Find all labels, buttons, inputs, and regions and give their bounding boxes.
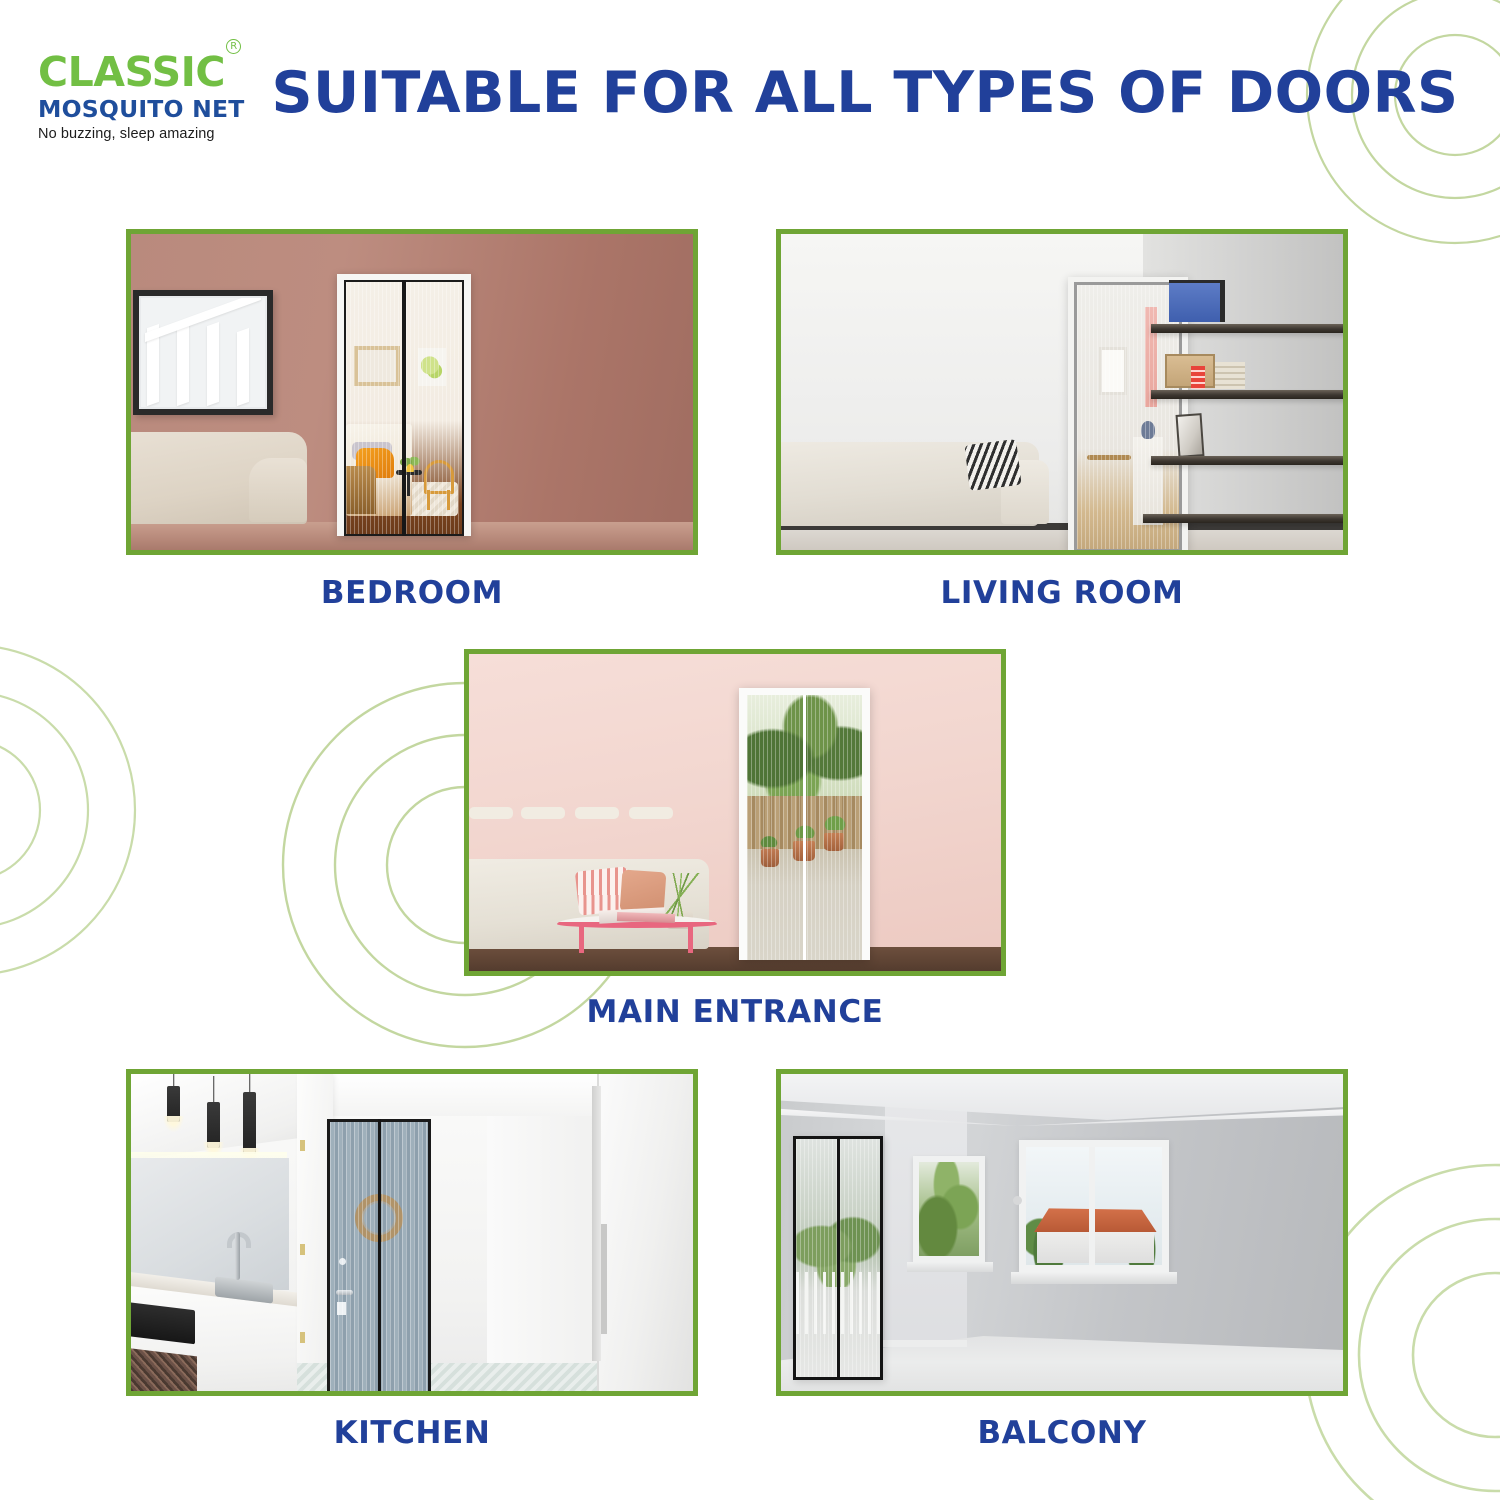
sofa-cushion [575,807,619,819]
window-mullion [1089,1147,1095,1265]
handrail [1087,455,1131,460]
large-window [1019,1140,1169,1272]
refrigerator [597,1074,693,1391]
brand-name-classic: CLASSICR [38,52,225,93]
scene-main-entrance [469,654,1001,971]
coffee-table-leg [579,925,584,953]
wall-picture-frame [133,290,273,415]
interior-window [1099,347,1127,395]
terracotta-pot [761,849,779,867]
brand-tagline: No buzzing, sleep amazing [38,126,268,142]
zebra-print-pillow [964,439,1021,491]
door-lock-plate [337,1302,346,1315]
shelf [1143,514,1343,523]
cabinet-gap [592,1086,601,1361]
garden-foliage [820,812,850,830]
tiled-rooftop [1034,1208,1156,1232]
caption-bedroom: BEDROOM [126,575,698,611]
card-living-room [776,229,1348,555]
side-table-stem [407,474,410,496]
image-frame-bedroom [126,229,698,555]
image-frame-living-room [776,229,1348,555]
scene-balcony [781,1074,1343,1391]
sofa-cushion [521,807,565,819]
picture-rail [207,322,219,406]
registered-trademark-icon: R [226,39,241,54]
brand-logo: CLASSICR MOSQUITO NET No buzzing, sleep … [38,52,268,142]
sofa-cushion [469,807,513,819]
bed-blanket [346,466,376,514]
wall-mirror [354,346,400,386]
decorative-rings-top-right [1290,0,1500,260]
image-frame-kitchen [126,1069,698,1396]
chair-leg [447,490,450,510]
magnetic-mesh-screen [327,1119,431,1391]
picture-rail [237,328,249,406]
floor [781,528,1343,550]
chair-back [424,460,454,494]
shelf [1151,324,1343,333]
floor [469,947,1001,971]
sofa-armrest [249,458,307,522]
book-stack [1165,354,1215,388]
shelf [1151,456,1343,465]
door-hinge [300,1244,305,1255]
pendant-light [167,1086,180,1122]
door-hinge [300,1140,305,1151]
chair-leg [427,490,430,510]
coffee-table-leg [688,925,693,953]
door-peephole [339,1258,346,1265]
magnetic-mesh-screen [344,280,464,536]
side-table [396,470,422,500]
magnetic-mesh-screen [747,695,862,960]
wall-art-graphic [421,351,443,383]
caption-kitchen: KITCHEN [126,1415,698,1451]
mesh-center-seam [803,695,806,960]
caption-living-room: LIVING ROOM [776,575,1348,611]
card-kitchen [126,1069,698,1396]
scene-bedroom [131,234,693,550]
chair [420,458,456,508]
picture-frame-decor [1176,413,1205,458]
backsplash [131,1158,289,1290]
baseboard [873,1340,967,1347]
small-window [913,1156,985,1262]
refrigerator-handle [601,1224,607,1334]
caption-main-entrance: MAIN ENTRANCE [464,994,1006,1030]
picture-rail [177,318,189,406]
wall-picture-image [141,298,265,407]
door-handle [336,1290,353,1295]
magnetic-mesh-screen [793,1136,883,1380]
card-balcony [776,1069,1348,1396]
brand-name-mosquito-net: MOSQUITO NET [38,96,268,123]
mesh-center-seam [402,280,406,536]
terracotta-pot [824,833,844,851]
infographic-page: CLASSICR MOSQUITO NET No buzzing, sleep … [0,0,1500,1500]
card-bedroom [126,229,698,555]
mesh-center-seam [837,1136,840,1380]
scene-kitchen [131,1074,693,1391]
window-handle [1013,1196,1022,1205]
coffee-table [557,915,717,955]
small-window-view [919,1162,979,1256]
faucet-icon [225,1232,251,1284]
shelf [1151,390,1343,399]
decorative-rings-middle-left [0,610,170,1010]
large-window-sill [1011,1272,1177,1284]
small-window-sill [907,1262,993,1272]
ceiling [291,1074,605,1116]
pendant-light [207,1102,220,1148]
image-frame-balcony [776,1069,1348,1396]
door-hinge [300,1332,305,1343]
caption-balcony: BALCONY [776,1415,1348,1451]
card-main-entrance [464,649,1006,976]
pendant-light [243,1092,256,1154]
shelving-unit [1143,262,1343,530]
scene-living-room [781,234,1343,550]
mesh-center-seam [378,1119,381,1391]
wall-art [418,348,446,386]
neighbouring-building [1037,1227,1154,1262]
book-stack [1215,362,1245,389]
garden-foliage [757,833,781,847]
sofa-cushion [629,807,673,819]
red-decor-object [1191,366,1205,389]
page-title: SUITABLE FOR ALL TYPES OF DOORS [270,60,1460,126]
blue-panel-decor [1169,280,1225,322]
image-frame-main-entrance [464,649,1006,976]
